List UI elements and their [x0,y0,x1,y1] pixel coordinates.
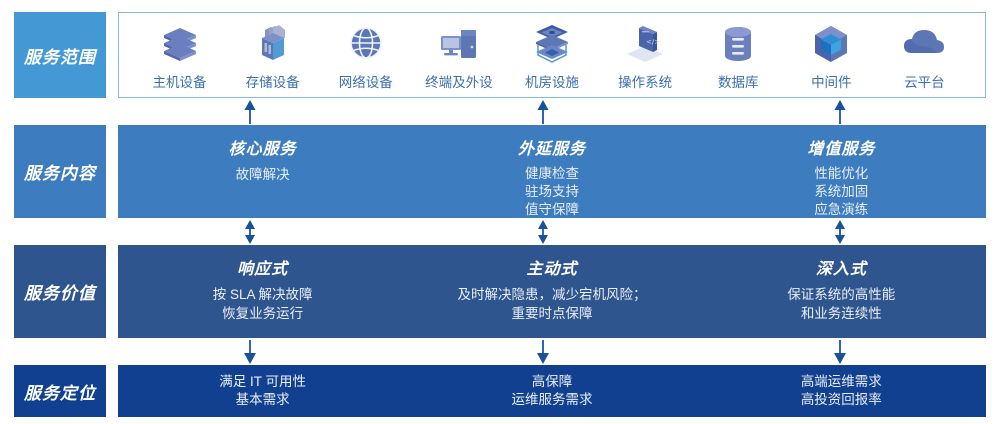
row-label-content: 服务内容 [14,125,106,218]
column-title: 增值服务 [807,135,875,159]
server-stack-icon [158,21,202,67]
scope-item-label: 主机设备 [153,71,207,91]
scope-item-terminal[interactable]: 终端及外设 [412,21,505,91]
column-title: 核心服务 [229,135,297,159]
value-column-responsive: 响应式 按 SLA 解决故障 恢复业务运行 [118,245,407,338]
scope-item-host[interactable]: 主机设备 [133,21,226,91]
scope-item-label: 存储设备 [246,71,300,91]
column-line: 健康检查 [525,165,579,183]
datacenter-facility-icon [528,21,576,67]
column-line: 应急演练 [814,201,868,219]
connector-up-2 [536,100,550,124]
column-line: 高端运维需求 [801,373,882,391]
connector-up-3 [833,100,847,124]
database-cylinder-icon [716,21,760,67]
cloud-platform-icon [900,21,948,67]
connector-up-1 [243,100,257,124]
scope-item-label: 中间件 [811,71,852,91]
column-line: 运维服务需求 [511,391,592,409]
column-title: 深入式 [816,255,867,279]
value-columns: 响应式 按 SLA 解决故障 恢复业务运行 主动式 及时解决隐患，减少宕机风险；… [118,245,986,338]
column-line: 满足 IT 可用性 [219,373,306,391]
content-column-extended: 外延服务 健康检查 驻场支持 值守保障 [407,125,696,218]
column-line: 值守保障 [525,201,579,219]
position-column-basic: 满足 IT 可用性 基本需求 [118,365,407,417]
connector-down-3 [833,340,847,364]
content-column-valueadd: 增值服务 性能优化 系统加固 应急演练 [697,125,986,218]
connector-both-3 [833,220,847,244]
column-line: 高投资回报率 [801,391,882,409]
scope-item-label: 操作系统 [618,71,672,91]
column-line: 驻场支持 [525,183,579,201]
content-column-core: 核心服务 故障解决 [118,125,407,218]
scope-item-cloud[interactable]: 云平台 [878,21,971,91]
column-line: 和业务连续性 [801,304,882,323]
scope-item-os[interactable]: </> 操作系统 [599,21,692,91]
svg-text:</>: </> [646,38,660,46]
content-panel: 核心服务 故障解决 外延服务 健康检查 驻场支持 值守保障 增值服务 性能优化 … [118,125,986,218]
laptop-os-icon: </> [621,21,669,67]
service-framework-diagram: 服务范围 [0,0,1000,424]
value-column-indepth: 深入式 保证系统的高性能 和业务连续性 [697,245,986,338]
scope-item-middleware[interactable]: 中间件 [785,21,878,91]
connector-down-2 [536,340,550,364]
column-line: 基本需求 [236,391,290,409]
scope-item-storage[interactable]: 存储设备 [226,21,319,91]
middleware-cube-icon [809,21,853,67]
column-title: 外延服务 [518,135,586,159]
column-line: 保证系统的高性能 [787,285,895,304]
connector-both-2 [536,220,550,244]
value-column-proactive: 主动式 及时解决隐患，减少宕机风险； 重要时点保障 [407,245,696,338]
scope-item-database[interactable]: 数据库 [692,21,785,91]
column-title: 主动式 [526,255,577,279]
scope-item-label: 数据库 [718,71,759,91]
storage-array-icon [251,21,295,67]
row-label-position: 服务定位 [14,365,106,417]
column-line: 系统加固 [814,183,868,201]
scope-item-label: 云平台 [904,71,945,91]
scope-item-network[interactable]: 网络设备 [319,21,412,91]
column-line: 高保障 [532,373,573,391]
connector-both-1 [243,220,257,244]
position-panel: 满足 IT 可用性 基本需求 高保障 运维服务需求 高端运维需求 高投资回报率 [118,365,986,417]
column-line: 故障解决 [236,165,290,184]
position-column-highend: 高端运维需求 高投资回报率 [697,365,986,417]
column-line: 及时解决隐患，减少宕机风险； [457,285,646,304]
row-label-scope: 服务范围 [14,12,106,98]
position-column-assurance: 高保障 运维服务需求 [407,365,696,417]
globe-network-icon [344,21,388,67]
desktop-pc-icon [435,21,483,67]
value-panel: 响应式 按 SLA 解决故障 恢复业务运行 主动式 及时解决隐患，减少宕机风险；… [118,245,986,338]
column-line: 性能优化 [814,165,868,183]
column-line: 重要时点保障 [511,304,592,323]
scope-item-label: 网络设备 [339,71,393,91]
scope-item-facility[interactable]: 机房设施 [505,21,598,91]
position-columns: 满足 IT 可用性 基本需求 高保障 运维服务需求 高端运维需求 高投资回报率 [118,365,986,417]
column-line: 恢复业务运行 [222,304,303,323]
content-columns: 核心服务 故障解决 外延服务 健康检查 驻场支持 值守保障 增值服务 性能优化 … [118,125,986,218]
column-line: 按 SLA 解决故障 [213,285,313,304]
scope-panel: 主机设备 [118,12,986,98]
scope-item-label: 机房设施 [525,71,579,91]
connector-down-1 [243,340,257,364]
scope-item-grid: 主机设备 [119,13,985,97]
row-label-value: 服务价值 [14,245,106,338]
scope-item-label: 终端及外设 [425,71,493,91]
column-title: 响应式 [237,255,288,279]
